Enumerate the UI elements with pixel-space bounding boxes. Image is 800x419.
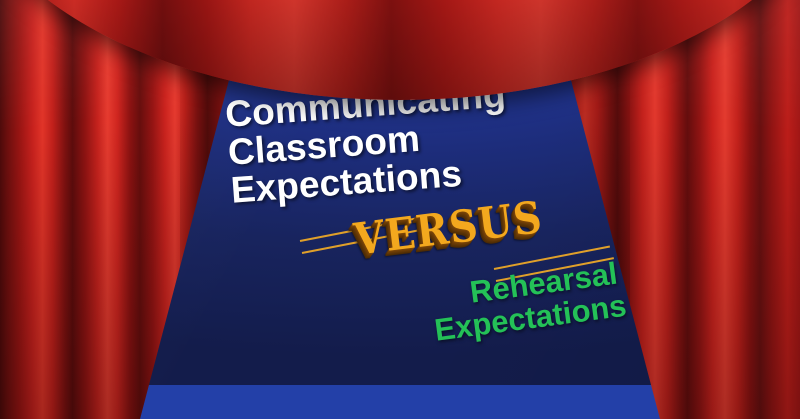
poster-canvas: Communicating Classroom Expectations VER… [0, 0, 800, 419]
